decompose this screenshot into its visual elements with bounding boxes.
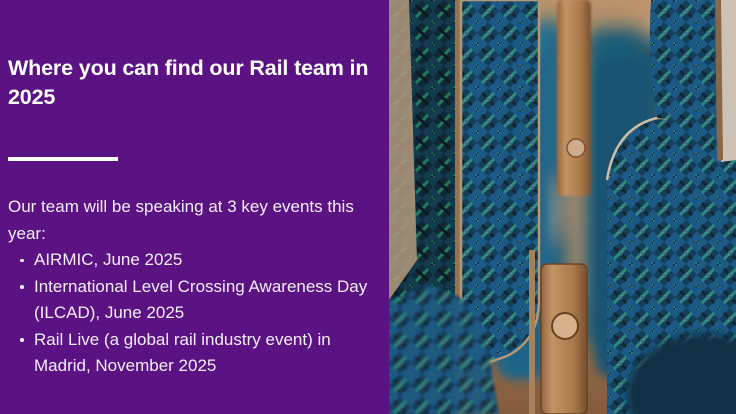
slide: Where you can find our Rail team in 2025…	[0, 0, 736, 414]
list-item-label: International Level Crossing Awareness D…	[34, 277, 367, 323]
list-item: AIRMIC, June 2025	[4, 247, 386, 274]
list-item: International Level Crossing Awareness D…	[4, 274, 386, 327]
bullet-icon	[20, 285, 24, 289]
train-seats-illustration	[389, 0, 736, 414]
bullet-icon	[20, 338, 24, 342]
list-item-label: AIRMIC, June 2025	[34, 250, 182, 269]
title-divider	[8, 157, 118, 161]
page-title: Where you can find our Rail team in 2025	[8, 54, 382, 112]
intro-paragraph: Our team will be speaking at 3 key event…	[4, 194, 386, 247]
body-content: Our team will be speaking at 3 key event…	[4, 194, 386, 380]
event-list: AIRMIC, June 2025 International Level Cr…	[4, 247, 386, 380]
list-item-label: Rail Live (a global rail industry event)…	[34, 330, 331, 376]
list-item: Rail Live (a global rail industry event)…	[4, 327, 386, 380]
text-panel: Where you can find our Rail team in 2025…	[0, 0, 389, 414]
bullet-icon	[20, 259, 24, 263]
train-interior-photo	[389, 0, 736, 414]
